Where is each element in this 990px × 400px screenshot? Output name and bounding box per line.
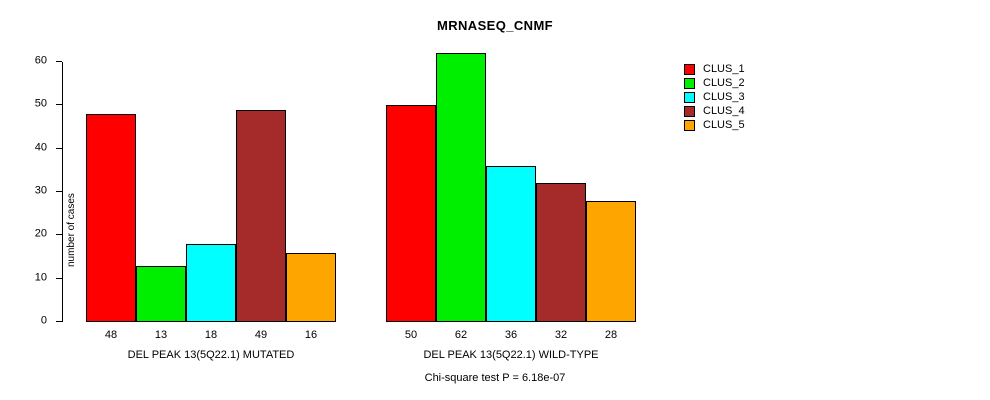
y-axis-tick: 30 [56,191,62,192]
legend-item-label: CLUS_1 [703,64,745,75]
legend-item: CLUS_2 [684,76,745,90]
legend-swatch-icon [684,92,695,103]
bar-value-label: 32 [536,330,586,341]
bar-value-label: 36 [486,330,536,341]
bar-value-label: 48 [86,330,136,341]
bar [136,266,186,322]
legend-swatch-icon [684,120,695,131]
legend-item: CLUS_1 [684,62,745,76]
legend-swatch-icon [684,64,695,75]
legend-swatch-icon [684,78,695,89]
x-axis-group-label: DEL PEAK 13(5Q22.1) WILD-TYPE [386,350,636,361]
y-axis-line [62,62,63,322]
y-axis-title: number of cases [67,193,77,267]
y-axis-tick-label: 0 [41,316,47,327]
legend-item-label: CLUS_2 [703,78,745,89]
bar-value-label: 62 [436,330,486,341]
legend: CLUS_1CLUS_2CLUS_3CLUS_4CLUS_5 [684,62,745,132]
bar [436,53,486,322]
page-title: MRNASEQ_CNMF [0,18,990,33]
bar [486,166,536,322]
y-axis-tick: 40 [56,148,62,149]
bar [236,110,286,322]
legend-item: CLUS_3 [684,90,745,104]
chart-canvas: MRNASEQ_CNMF 0102030405060 number of cas… [0,0,990,400]
bar [386,105,436,322]
bar-value-label: 49 [236,330,286,341]
bar [286,253,336,322]
y-axis-tick: 0 [56,321,62,322]
bar [186,244,236,322]
legend-swatch-icon [684,106,695,117]
bar-value-label: 16 [286,330,336,341]
y-axis-tick-label: 50 [35,99,47,110]
y-axis-tick-label: 60 [35,56,47,67]
x-axis-group-label: DEL PEAK 13(5Q22.1) MUTATED [86,350,336,361]
legend-item: CLUS_5 [684,118,745,132]
bar-value-label: 50 [386,330,436,341]
y-axis-tick-label: 30 [35,186,47,197]
y-axis-tick: 60 [56,61,62,62]
bar-value-label: 18 [186,330,236,341]
y-axis-tick-label: 40 [35,142,47,153]
legend-item: CLUS_4 [684,104,745,118]
y-axis-tick: 50 [56,104,62,105]
plot-area: 0102030405060 number of cases 4813184916… [62,62,662,322]
y-axis-tick-label: 10 [35,272,47,283]
bar-value-label: 13 [136,330,186,341]
bar [536,183,586,322]
bar-value-label: 28 [586,330,636,341]
bar [586,201,636,322]
legend-item-label: CLUS_3 [703,92,745,103]
legend-item-label: CLUS_5 [703,120,745,131]
legend-item-label: CLUS_4 [703,106,745,117]
bar [86,114,136,322]
y-axis-tick: 10 [56,278,62,279]
statistic-annotation: Chi-square test P = 6.18e-07 [0,372,990,384]
y-axis-tick: 20 [56,234,62,235]
y-axis-tick-label: 20 [35,229,47,240]
